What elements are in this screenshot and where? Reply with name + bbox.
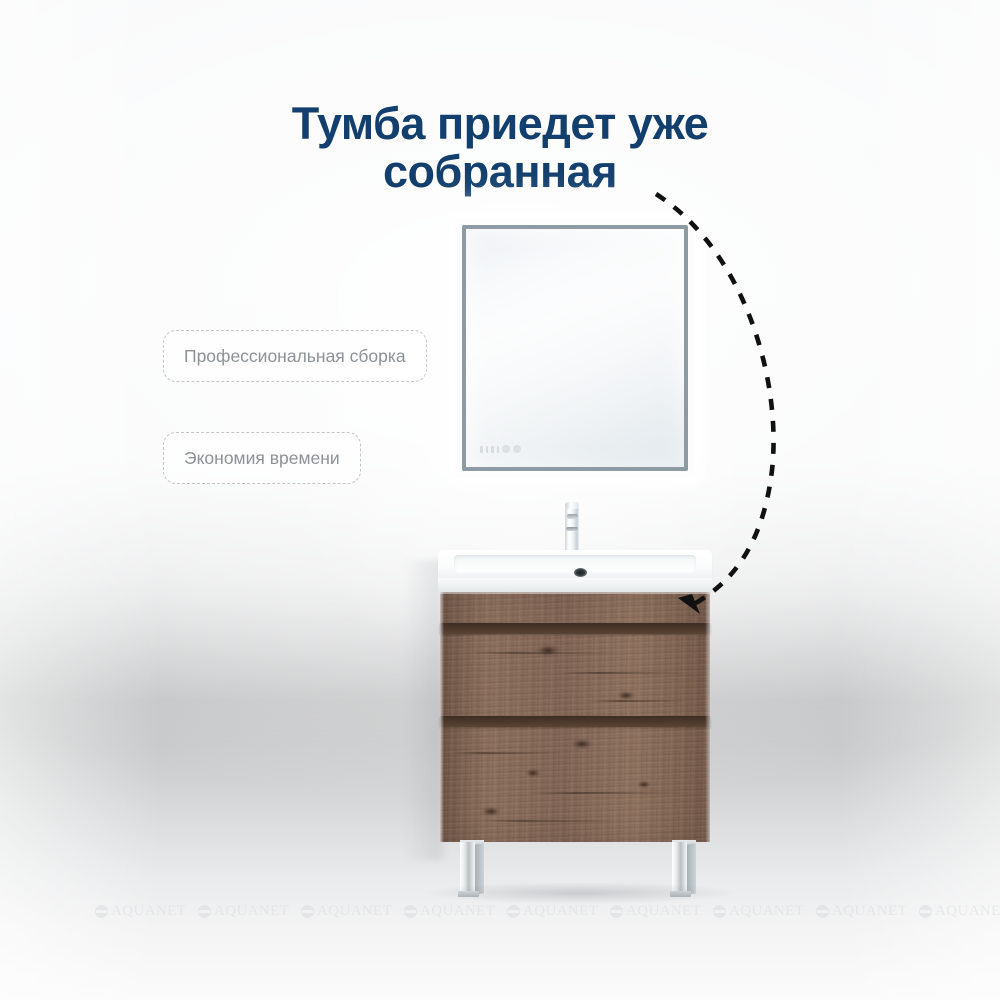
watermark-label: AQUANET	[317, 904, 392, 919]
faucet-lever	[567, 514, 578, 519]
watermark-aquanet: AQUANET	[816, 904, 907, 919]
watermark-label: AQUANET	[832, 904, 907, 919]
product-image-canvas: Тумба приедет уже собранная Профессионал…	[0, 0, 1000, 1000]
wood-knot	[524, 768, 542, 778]
cabinet-top-edge	[440, 592, 710, 594]
aquanet-logo-icon	[301, 905, 314, 918]
wood-knot	[616, 690, 636, 701]
wood-knot	[480, 806, 502, 817]
wood-grain-streak	[480, 820, 620, 822]
watermark-aquanet: AQUANET	[919, 904, 1000, 919]
vanity-cabinet	[440, 592, 710, 842]
watermark-label: AQUANET	[111, 904, 186, 919]
mirror-touch-bar-icon	[480, 446, 483, 453]
mirror-frame	[462, 225, 688, 471]
mirror-touch-bar-icon	[491, 446, 494, 453]
aquanet-logo-icon	[198, 905, 211, 918]
wood-grain-streak	[560, 672, 690, 674]
watermark-aquanet: AQUANET	[95, 904, 186, 919]
watermark-aquanet: AQUANET	[301, 904, 392, 919]
page-title: Тумба приедет уже собранная	[130, 100, 870, 195]
aquanet-logo-icon	[610, 905, 623, 918]
wood-knot	[535, 644, 561, 657]
watermark-aquanet: AQUANET	[713, 904, 804, 919]
watermark-label: AQUANET	[935, 904, 1000, 919]
wood-grain-streak	[530, 792, 690, 794]
feature-badge-label: Профессиональная сборка	[184, 346, 406, 367]
watermark-aquanet: AQUANET	[610, 904, 701, 919]
wood-knot	[570, 738, 594, 750]
mirror-dimmer-dot-icon	[513, 445, 521, 453]
washbasin	[438, 550, 712, 594]
feature-badge-time-saving: Экономия времени	[163, 432, 361, 484]
aquanet-logo-icon	[713, 905, 726, 918]
mirror-touch-bar-icon	[486, 446, 489, 453]
aquanet-logo-icon	[404, 905, 417, 918]
feature-badge-professional-assembly: Профессиональная сборка	[163, 330, 427, 382]
watermark-label: AQUANET	[420, 904, 495, 919]
cabinet-left-edge	[440, 592, 444, 842]
aquanet-logo-icon	[919, 905, 932, 918]
floor-shadow	[420, 882, 740, 904]
watermark-aquanet: AQUANET	[404, 904, 495, 919]
mirror-power-dot-icon	[502, 445, 510, 453]
aquanet-logo-icon	[507, 905, 520, 918]
watermark-aquanet: AQUANET	[198, 904, 289, 919]
drawer-gap-lower	[440, 716, 710, 727]
mirror-glass	[466, 229, 684, 467]
feature-badge-label: Экономия времени	[184, 448, 340, 469]
aquanet-logo-icon	[816, 905, 829, 918]
mirror-touch-bar-icon	[497, 446, 500, 453]
basin-drain-hole	[574, 568, 587, 577]
watermark-aquanet: AQUANET	[507, 904, 598, 919]
cabinet-right-edge	[705, 592, 710, 842]
wood-grain-streak	[450, 752, 560, 754]
faucet-band	[566, 527, 578, 531]
watermark-label: AQUANET	[729, 904, 804, 919]
watermark-label: AQUANET	[214, 904, 289, 919]
watermark-label: AQUANET	[626, 904, 701, 919]
wood-grain-streak	[590, 700, 690, 702]
aquanet-logo-icon	[95, 905, 108, 918]
wood-knot	[636, 780, 652, 789]
mirror-touch-controls	[480, 445, 521, 453]
watermark-row: AQUANETAQUANETAQUANETAQUANETAQUANETAQUAN…	[0, 902, 1000, 924]
watermark-label: AQUANET	[523, 904, 598, 919]
bathroom-mirror	[455, 218, 695, 478]
faucet-cap	[565, 502, 579, 509]
drawer-gap-upper	[440, 623, 710, 634]
